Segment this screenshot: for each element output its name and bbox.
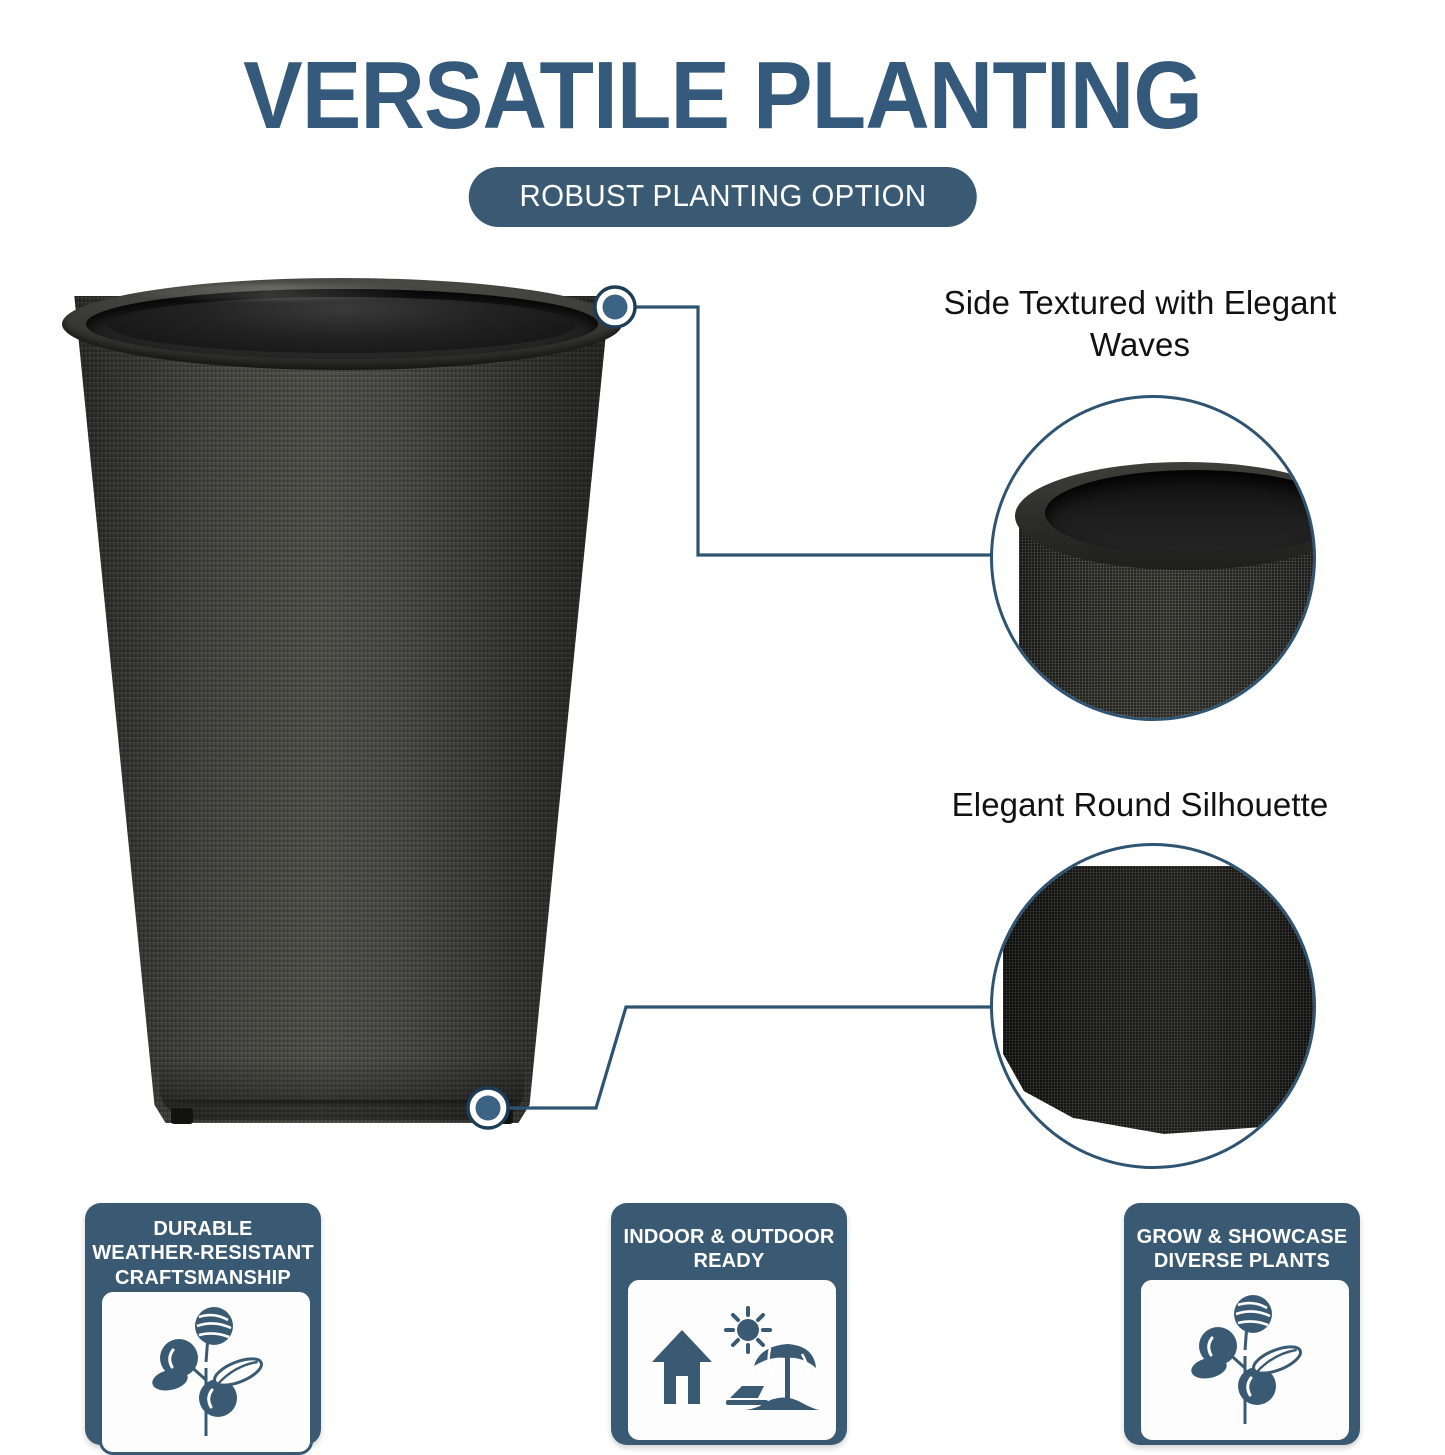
detail-1-artwork (1019, 450, 1316, 721)
feature-card-icon-panel (625, 1277, 839, 1443)
subtitle-pill-label: ROBUST PLANTING OPTION (519, 178, 926, 214)
lounge-chair-icon (726, 1386, 768, 1405)
feature-card-icon-panel (1138, 1277, 1352, 1443)
feature-card-title-line: WEATHER-RESISTANT (91, 1241, 315, 1265)
house-icon (652, 1330, 712, 1404)
feature-card-title: GROW & SHOWCASE DIVERSE PLANTS (1130, 1225, 1354, 1274)
berry-striped (1234, 1295, 1272, 1333)
feature-card-grow-showcase[interactable]: GROW & SHOWCASE DIVERSE PLANTS (1124, 1203, 1360, 1445)
feature-card-title: DURABLE WEATHER-RESISTANT CRAFTSMANSHIP (91, 1217, 315, 1290)
detail-circle-side-texture (990, 395, 1316, 721)
feature-card-row: DURABLE WEATHER-RESISTANT CRAFTSMANSHIP (0, 1203, 1445, 1445)
berry-striped (195, 1307, 233, 1345)
callout-label-round-silhouette: Elegant Round Silhouette (900, 784, 1380, 826)
feature-card-title-line: CRAFTSMANSHIP (91, 1266, 315, 1290)
infographic-canvas: VERSATILE PLANTING ROBUST PLANTING OPTIO… (0, 0, 1445, 1445)
beach-umbrella-icon (751, 1344, 816, 1402)
feature-card-title-line: DURABLE (91, 1217, 315, 1241)
feature-card-title-line: READY (617, 1249, 841, 1273)
planter-foot-left (171, 1108, 193, 1124)
feature-card-title: INDOOR & OUTDOOR READY (617, 1225, 841, 1274)
product-image-planter (62, 278, 622, 1128)
callout-label-side-texture: Side Textured with Elegant Waves (900, 282, 1380, 366)
leaf-outlined (211, 1353, 265, 1390)
feature-card-durable[interactable]: DURABLE WEATHER-RESISTANT CRAFTSMANSHIP (85, 1203, 321, 1445)
feature-card-title-line: DIVERSE PLANTS (1130, 1249, 1354, 1273)
planter-inner-cavity (108, 297, 576, 353)
feature-card-title-line: INDOOR & OUTDOOR (617, 1225, 841, 1249)
detail-2-artwork (1003, 866, 1316, 1166)
detail-circle-round-silhouette (990, 843, 1316, 1169)
detail-2-rounded-base (1003, 866, 1316, 1134)
planter-render (62, 278, 622, 1128)
feature-card-title-line: GROW & SHOWCASE (1130, 1225, 1354, 1249)
berry-branch-icon (146, 1302, 266, 1442)
planter-rim-highlight (122, 284, 422, 300)
planter-body (62, 296, 622, 1128)
feature-card-icon-panel (99, 1289, 313, 1455)
planter-base-groove (164, 1100, 520, 1104)
planter-foot-right (491, 1108, 513, 1124)
house-sun-beach-icon (642, 1300, 822, 1420)
page-title: VERSATILE PLANTING (51, 48, 1395, 144)
subtitle-pill: ROBUST PLANTING OPTION (468, 167, 977, 227)
leaf-outlined (1250, 1341, 1304, 1378)
berry-branch-icon (1185, 1285, 1305, 1435)
feature-card-indoor-outdoor[interactable]: INDOOR & OUTDOOR READY (611, 1203, 847, 1445)
sun-icon (726, 1308, 770, 1352)
